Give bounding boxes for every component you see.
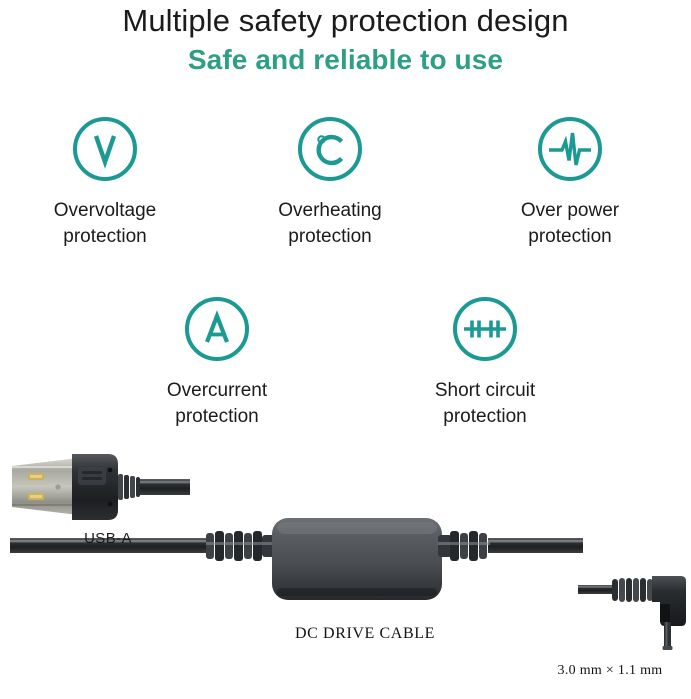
feature-overpower: Over power protection: [470, 113, 670, 250]
feature-label: Short circuit protection: [385, 365, 585, 430]
feature-shortcircuit: Short circuit protection: [385, 293, 585, 430]
dc-drive-cable-caption: DC DRIVE CABLE: [235, 624, 495, 644]
feature-label: Overvoltage protection: [5, 185, 205, 250]
dc-box-right-cable: [438, 531, 583, 561]
usb-a-caption: USB-A: [48, 530, 168, 548]
feature-overvoltage: Overvoltage protection: [5, 113, 205, 250]
pulse-waveform-icon: [534, 113, 606, 185]
page-title: Multiple safety protection design: [0, 0, 691, 40]
page-subtitle: Safe and reliable to use: [0, 40, 691, 77]
infographic-page: Multiple safety protection design Safe a…: [0, 0, 691, 699]
feature-overcurrent: Overcurrent protection: [117, 293, 317, 430]
ampere-a-icon: [181, 293, 253, 365]
heading-block: Multiple safety protection design Safe a…: [0, 0, 691, 77]
voltage-v-icon: [69, 113, 141, 185]
feature-label: Overheating protection: [230, 185, 430, 250]
dc-barrel-plug: [578, 576, 686, 650]
product-illustration: USB-A DC DRIVE CABLE 3.0 mm × 1.1 mm: [0, 446, 691, 699]
feature-label: Overcurrent protection: [117, 365, 317, 430]
feature-overheating: Overheating protection: [230, 113, 430, 250]
usb-a-connector: [12, 454, 190, 520]
feature-label: Over power protection: [470, 185, 670, 250]
plug-size-caption: 3.0 mm × 1.1 mm: [530, 662, 690, 680]
short-circuit-icon: [449, 293, 521, 365]
temperature-celsius-icon: [294, 113, 366, 185]
dc-drive-cable-box: [272, 518, 442, 600]
